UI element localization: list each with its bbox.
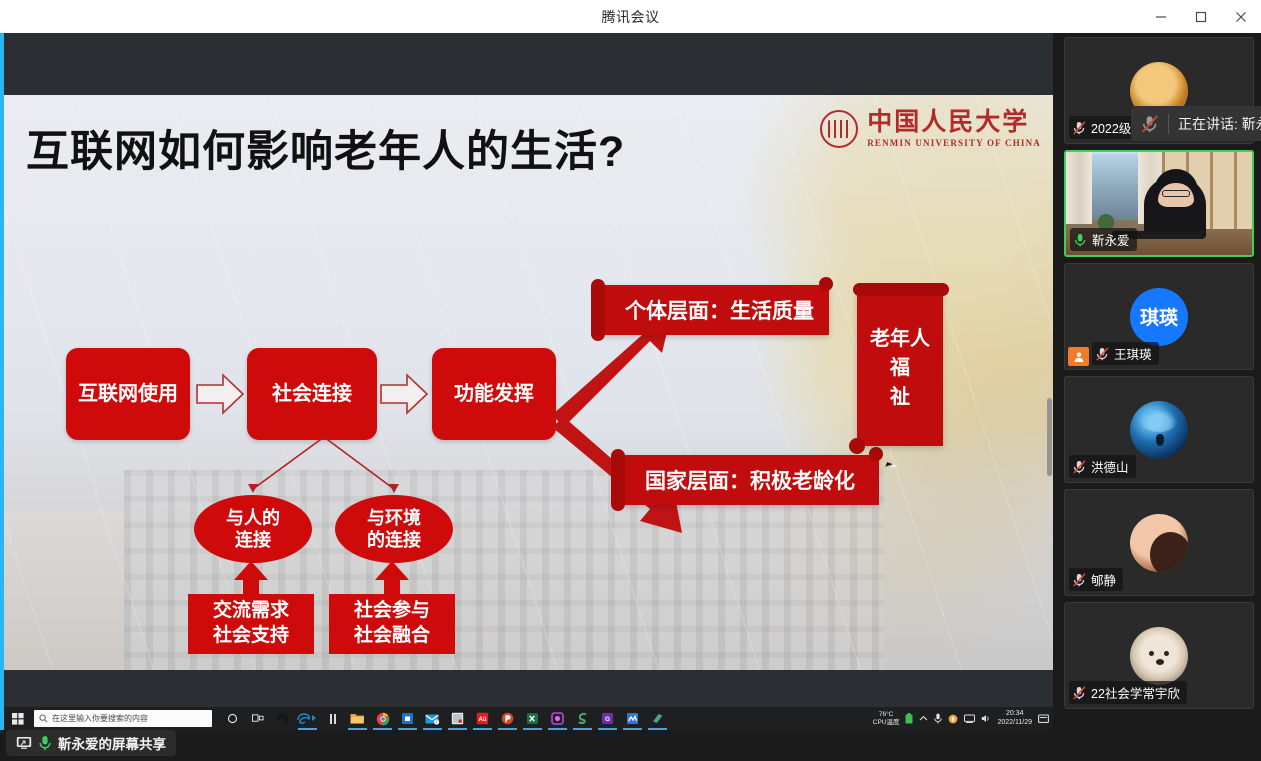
- participant-name-3: 洪德山: [1091, 457, 1129, 476]
- participant-tile-4[interactable]: 郇静: [1064, 489, 1254, 596]
- part-line2: 社会融合: [354, 625, 430, 646]
- vscroll-line2: 福: [890, 357, 910, 379]
- task-view-icon[interactable]: [245, 707, 270, 730]
- pdf-reader-icon[interactable]: Aü: [470, 707, 495, 730]
- mouse-cursor: [885, 462, 892, 469]
- comm-line2: 社会支持: [213, 625, 289, 646]
- excel-icon[interactable]: [520, 707, 545, 730]
- speaking-toast: 正在讲话: 靳永: [1131, 106, 1261, 141]
- update-icon[interactable]: [948, 714, 958, 724]
- avatar-initials: 琪瑛: [1130, 288, 1188, 346]
- svg-text:G: G: [605, 716, 610, 723]
- notification-icon[interactable]: [1038, 714, 1049, 724]
- part-line1: 社会参与: [354, 600, 430, 621]
- vscroll-line3: 祉: [890, 386, 910, 408]
- avatar-dog-eye-left: [1149, 651, 1154, 656]
- participant-name-1: 靳永爱: [1092, 230, 1130, 249]
- participant-badge-5: 22社会学常宇欣: [1069, 681, 1187, 704]
- avatar: [1130, 401, 1188, 459]
- taskbar-clock[interactable]: 20:34 2022/11/29: [997, 710, 1032, 726]
- participant-tile-3[interactable]: 洪德山: [1064, 376, 1254, 483]
- cam-person-glasses: [1162, 190, 1190, 197]
- internet-explorer-icon[interactable]: [295, 707, 320, 730]
- chevron-arrow-1-icon: [195, 372, 245, 416]
- vscroll-line1: 老年人: [870, 328, 930, 350]
- mic-muted-icon: [1073, 121, 1086, 135]
- diagram-ellipse-people-connection: 与人的 连接: [194, 495, 312, 563]
- toast-text: 正在讲话: 靳永: [1178, 114, 1261, 134]
- avatar-dog-nose: [1156, 659, 1164, 665]
- screen-share-indicator-bar[interactable]: 靳永爱的屏幕共享: [6, 730, 176, 756]
- ellipse-env-line2: 的连接: [367, 530, 421, 550]
- screen-share-icon: [16, 736, 32, 750]
- chevron-arrow-2-icon: [379, 372, 429, 416]
- clock-date: 2022/11/29: [997, 719, 1032, 727]
- mic-muted-icon: [1073, 686, 1086, 700]
- mic-muted-icon: [1073, 460, 1086, 474]
- diagram-connectors: [189, 437, 459, 499]
- participant-tile-1[interactable]: 靳永爱: [1064, 150, 1254, 257]
- mic-muted-icon: [1073, 573, 1086, 587]
- ellipse-env-line1: 与环境: [367, 508, 421, 528]
- cpu-temp-label: CPU温度: [873, 719, 900, 726]
- file-explorer-icon[interactable]: [345, 707, 370, 730]
- cpu-temp-value: 76°C: [873, 711, 900, 718]
- diagram-ellipse-environment-connection: 与环境 的连接: [335, 495, 453, 563]
- participant-rail[interactable]: 2022级公共管理马振怡: [1057, 33, 1261, 761]
- taskbar-search-input[interactable]: 在这里输入你要搜索的内容: [34, 710, 212, 727]
- shared-screen-content[interactable]: 互联网如何影响老年人的生活? 中国人民大学 RENMIN UNIVERSITY …: [4, 33, 1053, 730]
- host-icon: [1068, 347, 1089, 366]
- mic-muted-icon: [1096, 347, 1109, 361]
- battery-icon[interactable]: [905, 713, 913, 724]
- mic-on-icon: [1074, 233, 1087, 247]
- slide-diagram: 互联网使用 社会连接 功能发挥: [4, 95, 1053, 670]
- participant-name-4: 郇静: [1091, 570, 1116, 589]
- snipaste-icon[interactable]: [570, 707, 595, 730]
- volume-icon[interactable]: [981, 714, 991, 723]
- participant-badge-4: 郇静: [1069, 568, 1123, 591]
- svg-text:Aü: Aü: [479, 717, 487, 723]
- meeting-body: 互联网如何影响老年人的生活? 中国人民大学 RENMIN UNIVERSITY …: [0, 33, 1261, 761]
- shared-content-scrollbar[interactable]: [1047, 398, 1052, 476]
- app-blue-icon[interactable]: [620, 707, 645, 730]
- pause-icon[interactable]: [320, 707, 345, 730]
- vertical-scroll-elderly-welfare: 老年人 福 祉: [857, 291, 943, 446]
- close-button[interactable]: [1221, 0, 1261, 33]
- search-placeholder-text: 在这里输入你要搜索的内容: [52, 713, 148, 724]
- diagram-box-social-participation: 社会参与 社会融合: [329, 594, 455, 654]
- window-title: 腾讯会议: [602, 7, 660, 27]
- window-titlebar: 腾讯会议: [0, 0, 1261, 33]
- app-teal-icon[interactable]: [645, 707, 670, 730]
- windows-taskbar[interactable]: 在这里输入你要搜索的内容: [4, 707, 1053, 730]
- participant-name-5: 22社会学常宇欣: [1091, 683, 1180, 702]
- chrome-icon[interactable]: [370, 707, 395, 730]
- minimize-button[interactable]: [1141, 0, 1181, 33]
- window-controls: [1141, 0, 1261, 33]
- ps-icon[interactable]: [270, 707, 295, 730]
- toast-separator: [1168, 114, 1169, 134]
- network-icon[interactable]: [964, 714, 975, 723]
- participant-badge-1: 靳永爱: [1070, 228, 1137, 251]
- avatar: [1130, 514, 1188, 572]
- clock-time: 20:34: [997, 710, 1032, 718]
- participant-badge-3: 洪德山: [1069, 455, 1136, 478]
- foxit-pdf-icon[interactable]: G: [595, 707, 620, 730]
- mic-muted-icon: [1141, 115, 1159, 133]
- chevron-up-icon[interactable]: [919, 715, 928, 722]
- avatar-initials-text: 琪瑛: [1140, 303, 1178, 330]
- mic-on-icon: [39, 735, 51, 751]
- search-icon: [39, 714, 48, 723]
- participant-badge-2: 王琪瑛: [1092, 342, 1159, 365]
- participant-tile-5[interactable]: 22社会学常宇欣: [1064, 602, 1254, 709]
- taskbar-icon-strip[interactable]: 2 Aü: [220, 707, 670, 730]
- cpu-temperature-indicator: 76°C CPU温度: [873, 711, 900, 726]
- ellipse-people-line1: 与人的: [226, 508, 280, 528]
- system-tray[interactable]: 76°C CPU温度 20:34 2022/11/29: [873, 707, 1049, 730]
- diagram-box-internet-use: 互联网使用: [66, 348, 190, 440]
- calculator-icon[interactable]: [445, 707, 470, 730]
- avatar: [1130, 627, 1188, 685]
- participant-name-2: 王琪瑛: [1114, 344, 1152, 363]
- svg-text:2: 2: [436, 720, 438, 724]
- participant-tile-2[interactable]: 琪瑛 王琪瑛: [1064, 263, 1254, 370]
- shared-screen-region[interactable]: 互联网如何影响老年人的生活? 中国人民大学 RENMIN UNIVERSITY …: [0, 33, 1057, 761]
- mic-icon[interactable]: [934, 713, 942, 724]
- app-purple-icon[interactable]: [545, 707, 570, 730]
- windows-start-icon[interactable]: [4, 713, 32, 725]
- powerpoint-icon[interactable]: [495, 707, 520, 730]
- comm-line1: 交流需求: [213, 600, 289, 621]
- outcome-banner-individual: 个体层面：生活质量: [599, 285, 829, 335]
- avatar-bird: [1156, 434, 1164, 446]
- ellipse-people-line2: 连接: [235, 530, 271, 550]
- cortana-circle-icon[interactable]: [220, 707, 245, 730]
- diagram-box-communication-need: 交流需求 社会支持: [188, 594, 314, 654]
- maximize-button[interactable]: [1181, 0, 1221, 33]
- outcome-banner-national: 国家层面：积极老龄化: [619, 455, 879, 505]
- screen-letterbox: [4, 33, 1053, 95]
- cam-plant: [1094, 207, 1118, 229]
- diagram-box-function-play: 功能发挥: [432, 348, 556, 440]
- store-icon[interactable]: [395, 707, 420, 730]
- mail-icon[interactable]: 2: [420, 707, 445, 730]
- share-owner-label: 靳永爱的屏幕共享: [58, 733, 166, 753]
- cam-curtain-left: [1066, 152, 1092, 224]
- diagram-box-social-connection: 社会连接: [247, 348, 377, 440]
- presentation-slide: 互联网如何影响老年人的生活? 中国人民大学 RENMIN UNIVERSITY …: [4, 95, 1053, 670]
- avatar-dog-eye-right: [1164, 651, 1169, 656]
